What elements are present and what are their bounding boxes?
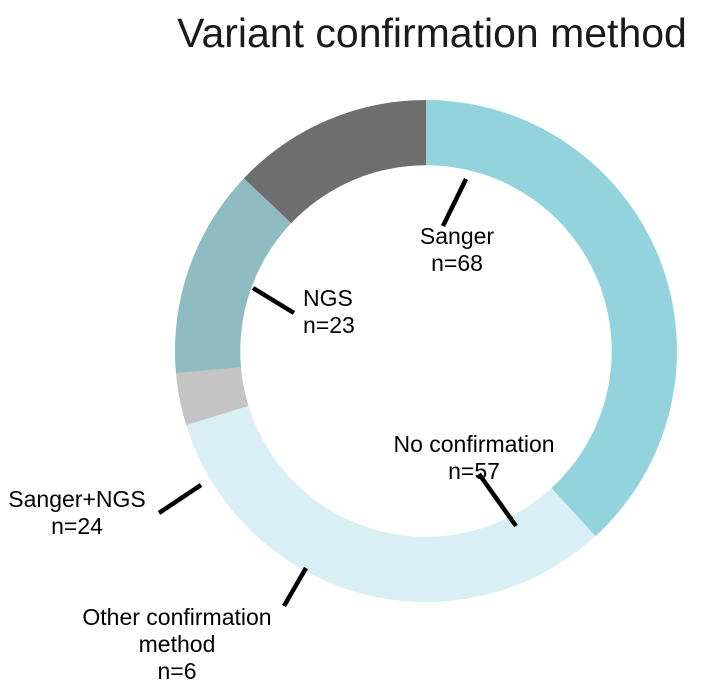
slice-label-sanger-count: n=68 xyxy=(431,250,483,276)
chart-container: Variant confirmation method Sanger n=68 … xyxy=(0,0,717,689)
slice-label-no-confirmation-name: No confirmation xyxy=(393,431,554,457)
slice-label-no-confirmation-count: n=57 xyxy=(448,458,500,484)
slice-label-sanger-name: Sanger xyxy=(420,223,495,249)
page-title: Variant confirmation method xyxy=(177,10,687,56)
slice-label-ngs-name: NGS xyxy=(303,285,353,311)
slice-label-ngs-count: n=23 xyxy=(303,312,355,338)
slice-label-other-confirmation-count: n=6 xyxy=(157,658,196,684)
slice-label-sanger-ngs-name: Sanger+NGS xyxy=(8,486,145,512)
slice-label-ngs: NGS n=23 xyxy=(303,285,355,338)
donut-chart-figure: Variant confirmation method Sanger n=68 … xyxy=(0,0,717,689)
slice-label-sanger-ngs-count: n=24 xyxy=(51,513,103,539)
slice-label-other-confirmation-name: Other confirmation xyxy=(82,604,271,630)
slice-label-other-confirmation-name2: method xyxy=(139,631,216,657)
